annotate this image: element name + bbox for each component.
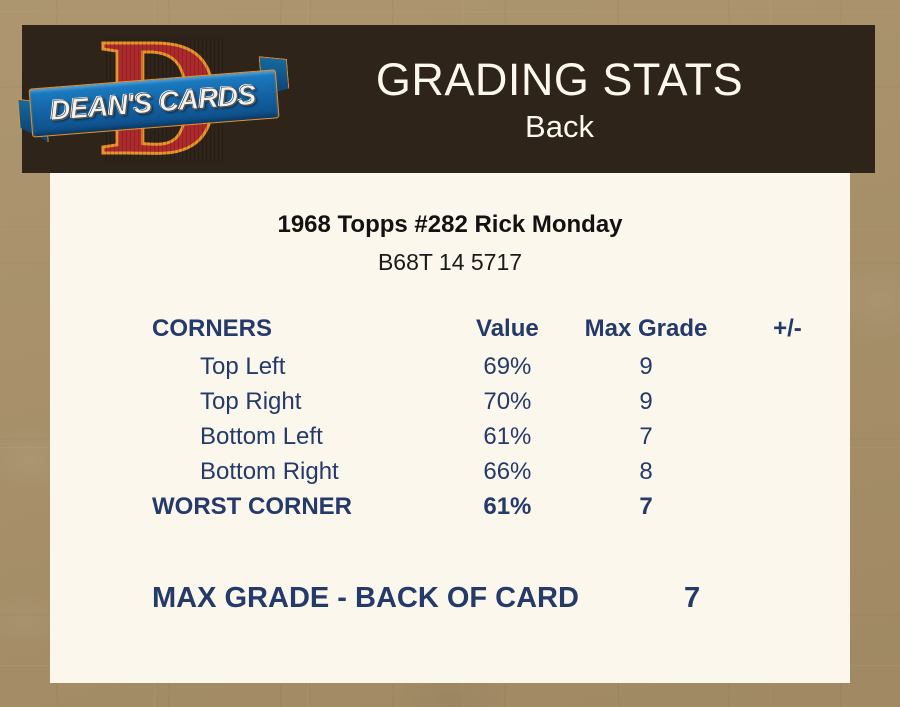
cell-corner-value: 70% [448,384,567,419]
table-row: Bottom Right66%8 [50,454,850,489]
cell-corner-label: Bottom Right [50,454,448,489]
table-row: Top Left69%9 [50,349,850,384]
card-subtitle: B68T 14 5717 [50,249,850,276]
cell-corner-plus-minus [725,454,850,489]
max-grade-label: MAX GRADE - BACK OF CARD [152,582,579,615]
cell-corner-value: 61% [448,489,567,524]
stats-card: 1968 Topps #282 Rick Monday B68T 14 5717… [50,173,850,683]
cell-corner-value: 61% [448,419,567,454]
table-row: Bottom Left61%7 [50,419,850,454]
column-header-corners: CORNERS [50,309,448,349]
cell-corner-max-grade: 9 [567,384,725,419]
cell-corner-label: Bottom Left [50,419,448,454]
cell-corner-plus-minus [725,349,850,384]
table-header-row: CORNERS Value Max Grade +/- [50,309,850,349]
page-subtitle: Back [284,107,835,147]
table-header: CORNERS Value Max Grade +/- [50,309,850,349]
cell-corner-max-grade: 7 [567,419,725,454]
card-title: 1968 Topps #282 Rick Monday [50,211,850,239]
cell-corner-plus-minus [725,419,850,454]
table-row: WORST CORNER61%7 [50,489,850,524]
column-header-plus-minus: +/- [725,309,850,349]
cell-corner-max-grade: 8 [567,454,725,489]
page-title: GRADING STATS [284,53,835,107]
cell-corner-plus-minus [725,384,850,419]
header-band: D DEAN'S CARDS GRADING STATS Back [22,25,875,173]
cell-corner-value: 66% [448,454,567,489]
cell-corner-max-grade: 9 [567,349,725,384]
cell-corner-value: 69% [448,349,567,384]
corners-stats-table: CORNERS Value Max Grade +/- Top Left69%9… [50,309,850,524]
deans-cards-logo: D DEAN'S CARDS [22,25,284,173]
cell-corner-label: Top Left [50,349,448,384]
max-grade-summary: MAX GRADE - BACK OF CARD 7 [50,582,850,615]
column-header-max-grade: Max Grade [567,309,725,349]
column-header-value: Value [448,309,567,349]
table-body: Top Left69%9Top Right70%9Bottom Left61%7… [50,349,850,524]
cell-corner-label: WORST CORNER [50,489,448,524]
cell-corner-label: Top Right [50,384,448,419]
header-titles: GRADING STATS Back [284,53,875,147]
table-row: Top Right70%9 [50,384,850,419]
cell-corner-max-grade: 7 [567,489,725,524]
cell-corner-plus-minus [725,489,850,524]
max-grade-value: 7 [684,582,700,615]
